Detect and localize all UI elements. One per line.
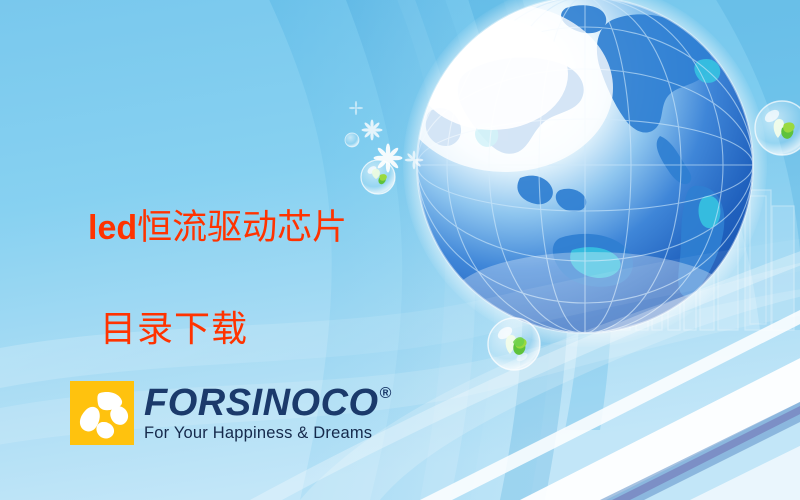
bubble [755, 101, 800, 155]
logo-tagline: For Your Happiness & Dreams [144, 424, 392, 443]
headline-overlay: led恒流驱动芯片 目录下载 [88, 163, 347, 394]
logo-wordmark: FORSINOCO® [144, 383, 392, 423]
promo-banner: led恒流驱动芯片 目录下载 FORSINOCO® For Your Happi… [0, 0, 800, 500]
bubble [345, 133, 359, 147]
headline-latin: led [88, 209, 137, 247]
brand-logo: FORSINOCO® For Your Happiness & Dreams [70, 381, 392, 445]
logo-mark-icon [70, 381, 134, 445]
registered-trademark-icon: ® [380, 386, 392, 402]
bubble [488, 318, 540, 370]
pinwheel-flower-icon [70, 381, 134, 445]
logo-name-text: FORSINOCO [144, 383, 379, 423]
headline-line-2: 目录下载 [100, 306, 347, 353]
logo-text-block: FORSINOCO® For Your Happiness & Dreams [144, 381, 392, 443]
headline-cjk: 恒流驱动芯片 [137, 208, 347, 247]
headline-line-1: led恒流驱动芯片 [88, 205, 347, 251]
bubble [361, 160, 395, 194]
